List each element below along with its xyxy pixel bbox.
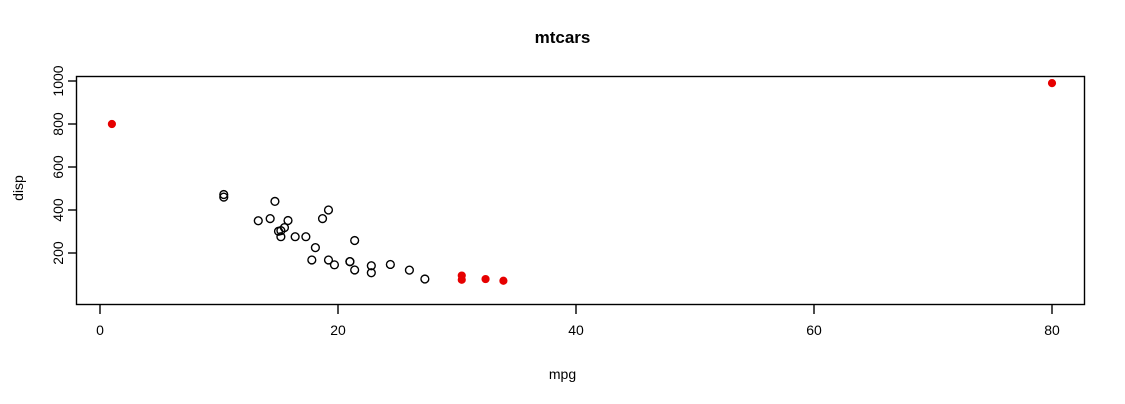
x-tick-label: 0 <box>96 322 104 338</box>
data-point-highlighted <box>458 276 465 283</box>
data-point-highlighted <box>500 277 507 284</box>
plot-frame <box>77 77 1085 305</box>
data-point <box>406 266 414 274</box>
x-tick-label: 40 <box>568 322 584 338</box>
y-tick-label: 400 <box>50 198 66 222</box>
y-axis-tick-labels: 2004006008001000 <box>50 65 66 264</box>
y-tick-label: 800 <box>50 112 66 136</box>
data-point <box>351 237 359 245</box>
data-point <box>421 275 429 283</box>
data-point-highlighted <box>482 275 489 282</box>
y-tick-label: 200 <box>50 241 66 265</box>
data-points-highlighted <box>108 80 1055 285</box>
y-axis-ticks <box>68 81 77 253</box>
data-point <box>331 261 339 269</box>
data-point <box>302 233 310 241</box>
data-point <box>271 198 279 206</box>
data-point <box>325 206 333 214</box>
data-point <box>311 244 319 252</box>
data-point <box>351 266 359 274</box>
x-axis-tick-labels: 020406080 <box>96 322 1060 338</box>
data-point <box>254 217 262 225</box>
y-tick-label: 1000 <box>50 65 66 96</box>
data-point <box>266 215 274 223</box>
x-tick-label: 20 <box>330 322 346 338</box>
scatter-plot: 2004006008001000 020406080 <box>0 0 1125 404</box>
x-axis-ticks <box>100 305 1052 314</box>
data-point <box>291 233 299 241</box>
y-tick-label: 600 <box>50 155 66 179</box>
data-point <box>308 256 316 264</box>
data-point-highlighted <box>1048 80 1055 87</box>
y-axis-label: disp <box>10 148 26 228</box>
data-point <box>319 215 327 223</box>
x-tick-label: 80 <box>1044 322 1060 338</box>
plot-canvas: mtcars 2004006008001000 020406080 mpg di… <box>0 0 1125 404</box>
data-point <box>284 217 292 225</box>
data-point-highlighted <box>108 120 115 127</box>
data-point <box>386 261 394 269</box>
data-points-normal <box>220 191 429 283</box>
x-axis-label: mpg <box>0 366 1125 382</box>
x-tick-label: 60 <box>806 322 822 338</box>
data-point <box>346 258 354 266</box>
